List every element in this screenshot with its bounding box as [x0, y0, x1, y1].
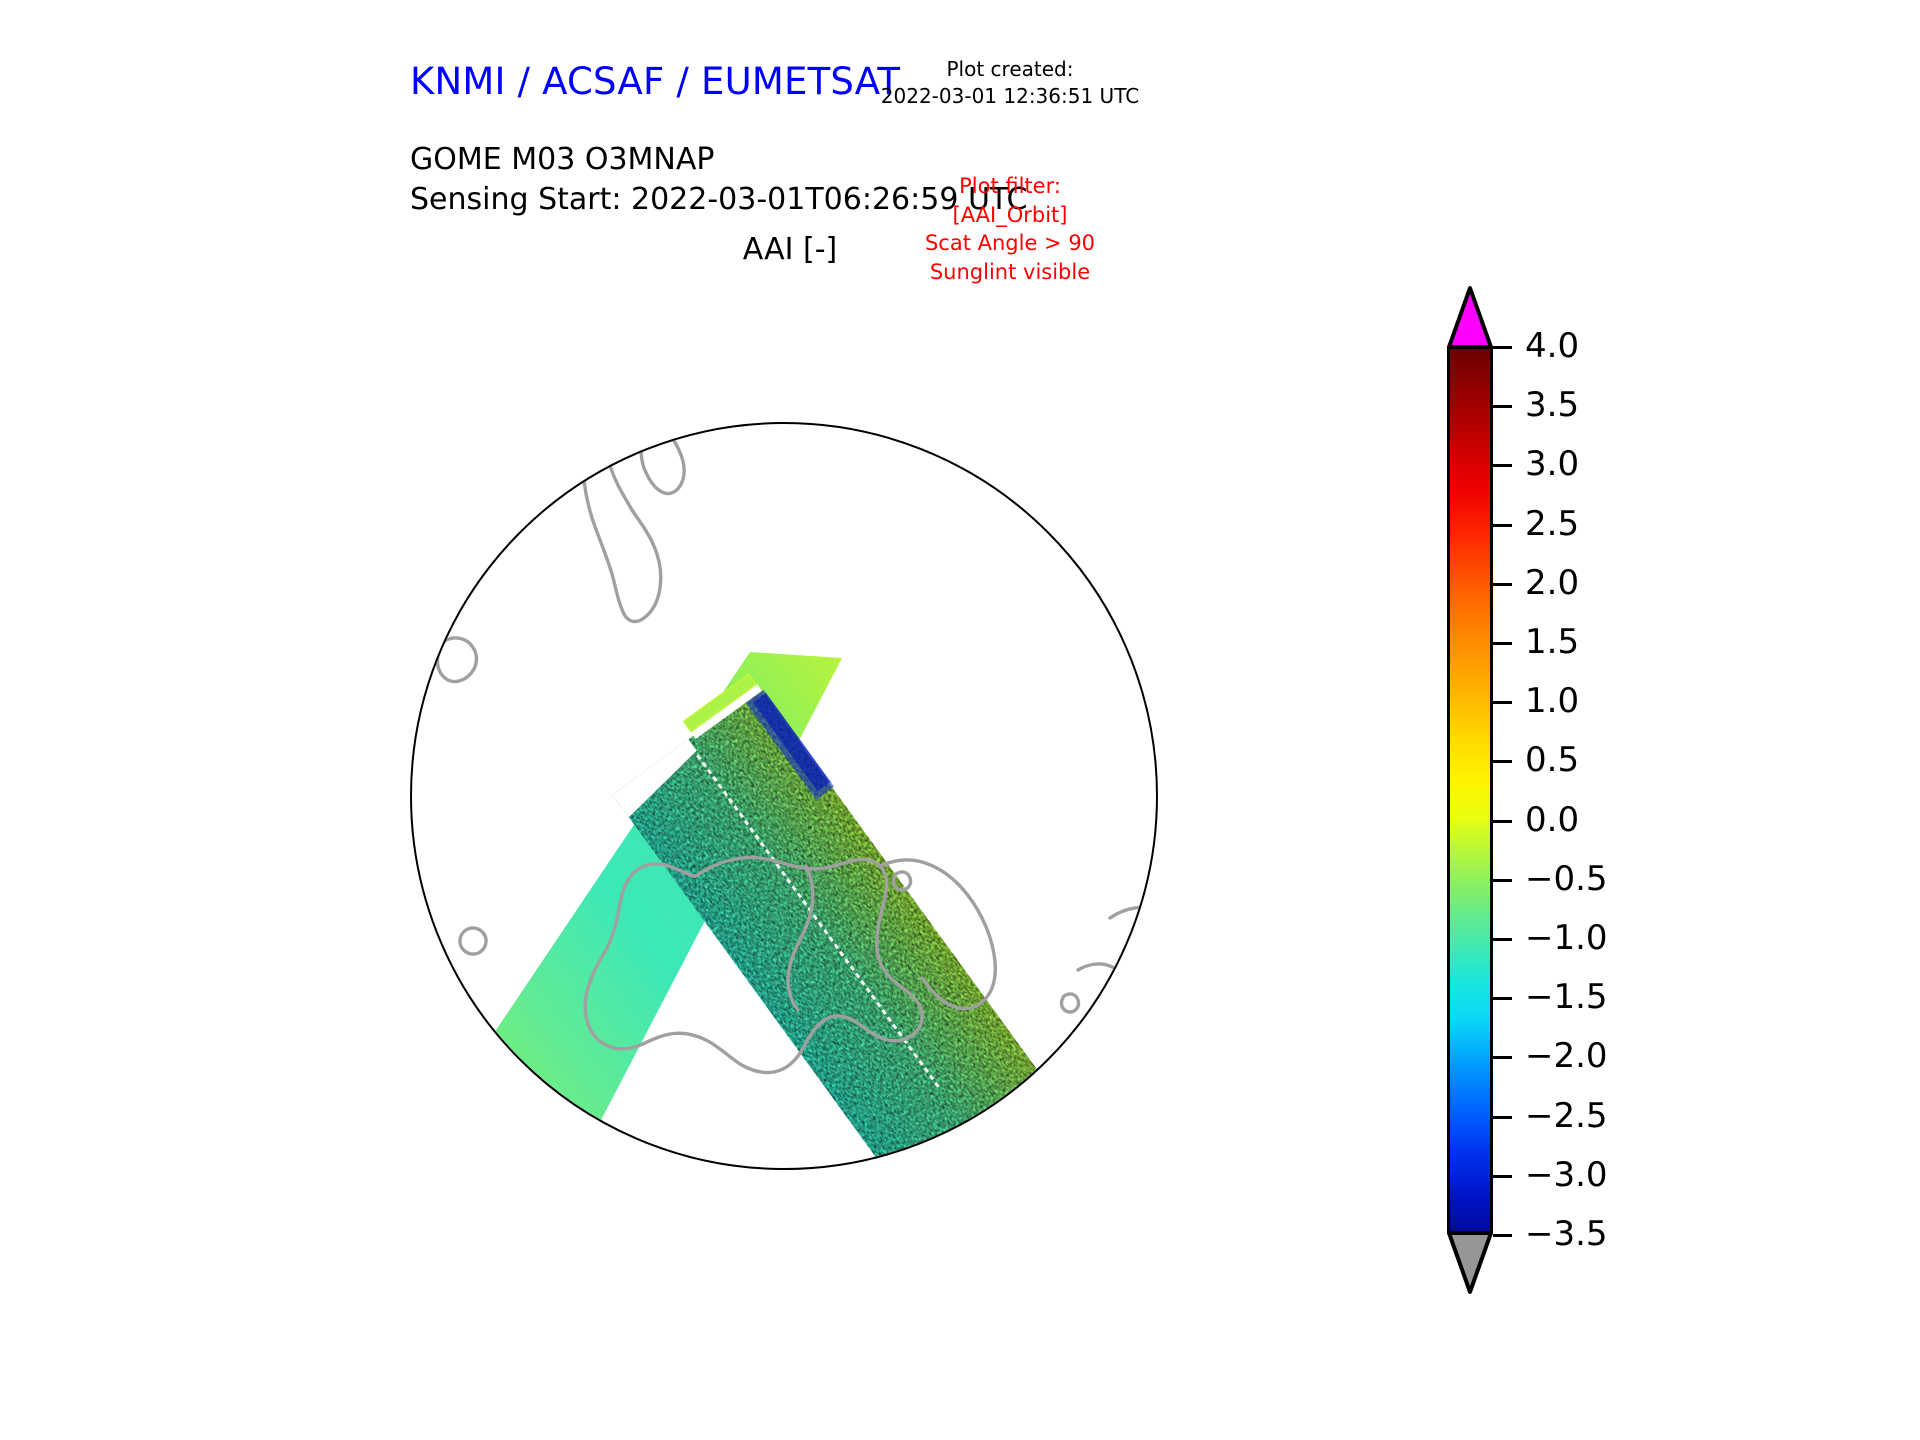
plot-created-block: Plot created: 2022-03-01 12:36:51 UTC: [800, 56, 1220, 110]
plot-filter-block: Plot filter: [AAI_Orbit] Scat Angle > 90…: [800, 172, 1220, 286]
map-contents: [410, 422, 1158, 1170]
colorbar-tick-mark: [1493, 820, 1512, 823]
plot-filter-name: [AAI_Orbit]: [800, 201, 1220, 230]
colorbar-tick-label: 1.5: [1525, 622, 1579, 662]
colorbar-tick-mark: [1493, 1234, 1512, 1237]
colorbar-tick-mark: [1493, 405, 1512, 408]
colorbar-tick-mark: [1493, 760, 1512, 763]
plot-filter-label: Plot filter:: [800, 172, 1220, 201]
colorbar-tick-label: −3.0: [1525, 1155, 1608, 1195]
colorbar-tick-mark: [1493, 997, 1512, 1000]
plot-filter-scat-angle: Scat Angle > 90: [800, 229, 1220, 258]
colorbar-tick-mark: [1493, 938, 1512, 941]
colorbar-tick-label: 2.5: [1525, 504, 1579, 544]
plot-filter-sunglint: Sunglint visible: [800, 258, 1220, 287]
colorbar-tick-mark: [1493, 642, 1512, 645]
colorbar-tick-label: 0.0: [1525, 800, 1579, 840]
plot-created-label: Plot created:: [800, 56, 1220, 83]
colorbar-tick-label: −3.5: [1525, 1214, 1608, 1254]
colorbar-tick-label: 3.0: [1525, 444, 1579, 484]
colorbar-tick-mark: [1493, 701, 1512, 704]
colorbar-tick-label: −2.0: [1525, 1036, 1608, 1076]
colorbar-tick-label: −0.5: [1525, 859, 1608, 899]
colorbar-tick-label: 3.5: [1525, 385, 1579, 425]
colorbar-tick-mark: [1493, 1116, 1512, 1119]
colorbar-tick-label: 4.0: [1525, 326, 1579, 366]
plot-canvas: KNMI / ACSAF / EUMETSAT Plot created: 20…: [0, 0, 1920, 1440]
colorbar-tick-mark: [1493, 464, 1512, 467]
polar-map: [410, 422, 1158, 1170]
colorbar-tick-label: −2.5: [1525, 1096, 1608, 1136]
colorbar-tick-label: 0.5: [1525, 740, 1579, 780]
colorbar-ticks: [1493, 346, 1515, 1234]
colorbar-tick-label: −1.5: [1525, 977, 1608, 1017]
colorbar-tick-label: −1.0: [1525, 918, 1608, 958]
colorbar-tick-mark: [1493, 1175, 1512, 1178]
colorbar-tick-mark: [1493, 583, 1512, 586]
colorbar-tick-label: 2.0: [1525, 563, 1579, 603]
colorbar-gradient: [1447, 346, 1493, 1234]
plot-created-value: 2022-03-01 12:36:51 UTC: [800, 83, 1220, 110]
map-graphics: [410, 422, 1158, 1170]
colorbar-tick-mark: [1493, 879, 1512, 882]
colorbar: 4.03.53.02.52.01.51.00.50.0−0.5−1.0−1.5−…: [1447, 285, 1517, 1295]
colorbar-over-range-arrow: [1447, 285, 1493, 349]
colorbar-tick-mark: [1493, 1056, 1512, 1059]
colorbar-tick-mark: [1493, 346, 1512, 349]
colorbar-under-range-arrow: [1447, 1231, 1493, 1295]
colorbar-tick-mark: [1493, 524, 1512, 527]
colorbar-tick-label: 1.0: [1525, 681, 1579, 721]
